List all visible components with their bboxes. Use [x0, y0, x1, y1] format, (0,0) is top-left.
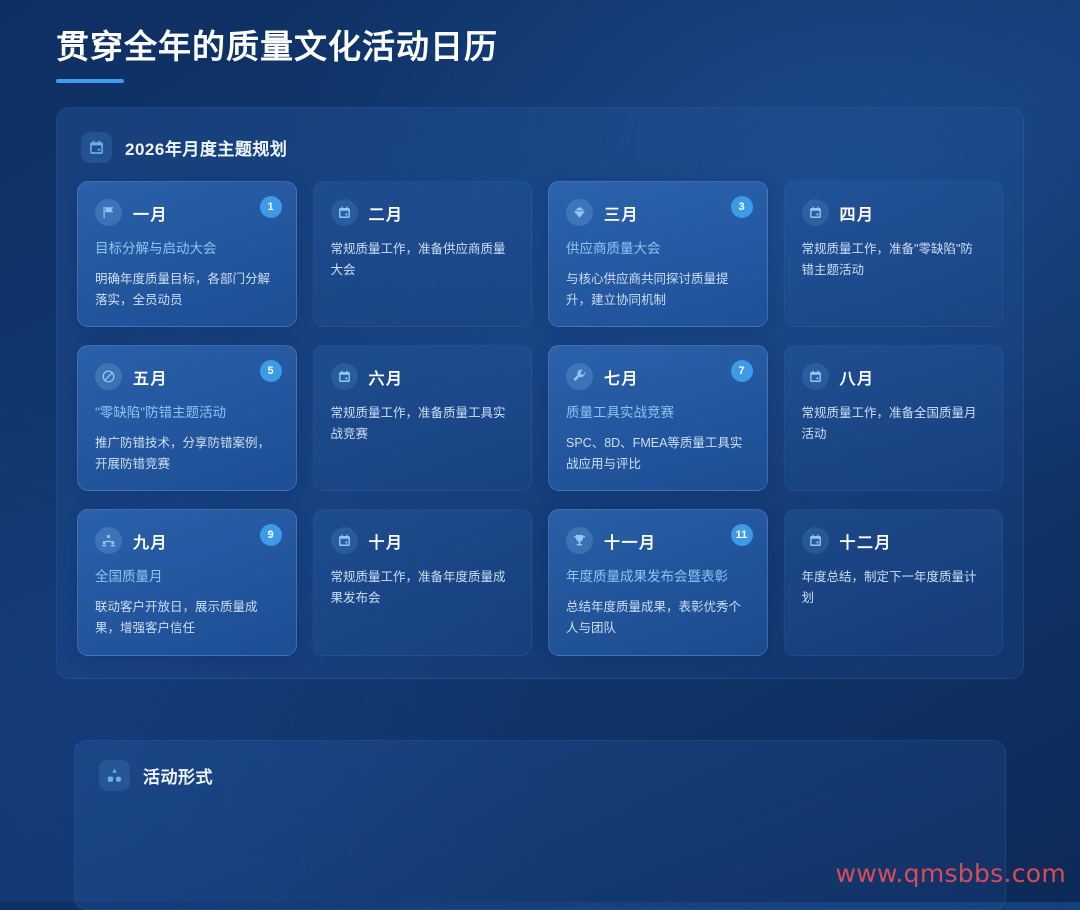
- month-description: 常规质量工作，准备年度质量成果发布会: [331, 567, 515, 608]
- month-card-header: 三月: [566, 199, 750, 226]
- month-description: 常规质量工作，准备"零缺陷"防错主题活动: [802, 239, 986, 280]
- month-label: 十二月: [840, 529, 893, 553]
- month-number-badge: 7: [731, 360, 753, 382]
- calendar-icon: [802, 527, 829, 554]
- calendar-icon: [331, 527, 358, 554]
- month-description: 明确年度质量目标，各部门分解落实，全员动员: [95, 269, 279, 310]
- formats-section-title: 活动形式: [143, 763, 213, 788]
- month-label: 五月: [133, 365, 168, 389]
- month-label: 一月: [133, 201, 168, 225]
- month-card-header: 六月: [331, 363, 515, 390]
- month-card[interactable]: 九月9全国质量月联动客户开放日，展示质量成果，增强客户信任: [77, 509, 297, 655]
- month-description: 常规质量工作，准备质量工具实战竞赛: [331, 403, 515, 444]
- month-label: 七月: [604, 365, 639, 389]
- month-description: 常规质量工作，准备全国质量月活动: [802, 403, 986, 444]
- month-description: 总结年度质量成果，表彰优秀个人与团队: [566, 597, 750, 638]
- calendar-icon: [331, 363, 358, 390]
- month-label: 三月: [604, 201, 639, 225]
- trophy-icon: [566, 527, 593, 554]
- month-card[interactable]: 二月常规质量工作，准备供应商质量大会: [313, 181, 533, 327]
- calendar-section-header: 2026年月度主题规划: [81, 132, 1003, 163]
- month-card[interactable]: 七月7质量工具实战竞赛SPC、8D、FMEA等质量工具实战应用与评比: [548, 345, 768, 491]
- month-theme: "零缺陷"防错主题活动: [95, 403, 279, 424]
- month-label: 八月: [840, 365, 875, 389]
- ban-icon: [95, 363, 122, 390]
- month-card-header: 四月: [802, 199, 986, 226]
- formats-section-header: 活动形式: [99, 760, 983, 791]
- month-label: 六月: [369, 365, 404, 389]
- month-card-header: 一月: [95, 199, 279, 226]
- people-icon: [95, 527, 122, 554]
- month-description: SPC、8D、FMEA等质量工具实战应用与评比: [566, 433, 750, 474]
- month-number-badge: 1: [260, 196, 282, 218]
- calendar-icon: [802, 199, 829, 226]
- month-card[interactable]: 十月常规质量工作，准备年度质量成果发布会: [313, 509, 533, 655]
- month-number-badge: 3: [731, 196, 753, 218]
- month-card[interactable]: 十一月11年度质量成果发布会暨表彰总结年度质量成果，表彰优秀个人与团队: [548, 509, 768, 655]
- month-card[interactable]: 四月常规质量工作，准备"零缺陷"防错主题活动: [784, 181, 1004, 327]
- month-label: 十一月: [604, 529, 657, 553]
- title-underline-rule: [56, 79, 124, 83]
- month-description: 联动客户开放日，展示质量成果，增强客户信任: [95, 597, 279, 638]
- month-card-header: 七月: [566, 363, 750, 390]
- month-card-header: 十一月: [566, 527, 750, 554]
- month-card[interactable]: 六月常规质量工作，准备质量工具实战竞赛: [313, 345, 533, 491]
- month-card-header: 十二月: [802, 527, 986, 554]
- month-label: 二月: [369, 201, 404, 225]
- month-theme: 质量工具实战竞赛: [566, 403, 750, 424]
- month-card[interactable]: 八月常规质量工作，准备全国质量月活动: [784, 345, 1004, 491]
- month-number-badge: 11: [731, 524, 753, 546]
- month-theme: 全国质量月: [95, 567, 279, 588]
- month-card-header: 五月: [95, 363, 279, 390]
- calendar-section-title: 2026年月度主题规划: [125, 135, 287, 160]
- calendar-icon: [331, 199, 358, 226]
- month-card-grid: 一月1目标分解与启动大会明确年度质量目标，各部门分解落实，全员动员二月常规质量工…: [77, 181, 1003, 656]
- monthly-calendar-panel: 2026年月度主题规划 一月1目标分解与启动大会明确年度质量目标，各部门分解落实…: [56, 107, 1024, 679]
- month-description: 常规质量工作，准备供应商质量大会: [331, 239, 515, 280]
- month-description: 推广防错技术，分享防错案例，开展防错竞赛: [95, 433, 279, 474]
- calendar-icon: [802, 363, 829, 390]
- month-theme: 目标分解与启动大会: [95, 239, 279, 260]
- page-header: 贯穿全年的质量文化活动日历: [0, 0, 1080, 83]
- month-number-badge: 9: [260, 524, 282, 546]
- month-description: 与核心供应商共同探讨质量提升，建立协同机制: [566, 269, 750, 310]
- month-card[interactable]: 三月3供应商质量大会与核心供应商共同探讨质量提升，建立协同机制: [548, 181, 768, 327]
- month-theme: 供应商质量大会: [566, 239, 750, 260]
- gem-icon: [566, 199, 593, 226]
- month-card-header: 八月: [802, 363, 986, 390]
- month-card-header: 十月: [331, 527, 515, 554]
- month-card-header: 九月: [95, 527, 279, 554]
- page-title: 贯穿全年的质量文化活动日历: [56, 26, 1080, 67]
- month-label: 十月: [369, 529, 404, 553]
- month-theme: 年度质量成果发布会暨表彰: [566, 567, 750, 588]
- month-card-header: 二月: [331, 199, 515, 226]
- month-card[interactable]: 五月5"零缺陷"防错主题活动推广防错技术，分享防错案例，开展防错竞赛: [77, 345, 297, 491]
- month-label: 九月: [133, 529, 168, 553]
- month-number-badge: 5: [260, 360, 282, 382]
- month-description: 年度总结，制定下一年度质量计划: [802, 567, 986, 608]
- shapes-icon: [99, 760, 130, 791]
- month-card[interactable]: 十二月年度总结，制定下一年度质量计划: [784, 509, 1004, 655]
- wrench-icon: [566, 363, 593, 390]
- site-watermark: www.qmsbbs.com: [835, 859, 1066, 888]
- flag-icon: [95, 199, 122, 226]
- calendar-icon: [81, 132, 112, 163]
- month-card[interactable]: 一月1目标分解与启动大会明确年度质量目标，各部门分解落实，全员动员: [77, 181, 297, 327]
- month-label: 四月: [840, 201, 875, 225]
